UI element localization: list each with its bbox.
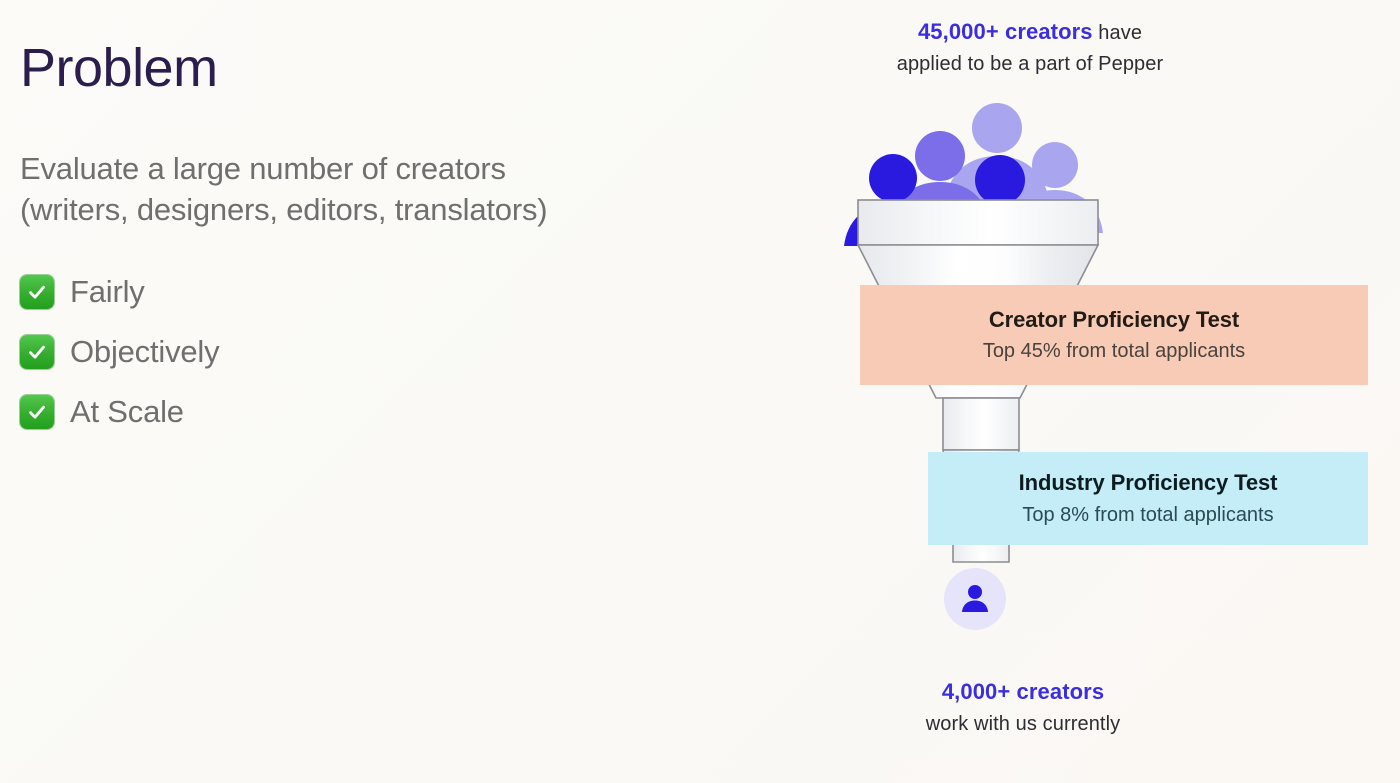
funnel-stage-band-creator-test: Creator Proficiency Test Top 45% from to… [860,285,1368,385]
person-silhouette-icon [959,581,991,618]
page-title: Problem [20,40,720,97]
list-item: At Scale [20,395,720,429]
criteria-checklist: Fairly Objectively At Scale [20,275,720,429]
funnel-bottom-caption: 4,000+ creators work with us currently [808,676,1238,739]
list-item: Fairly [20,275,720,309]
funnel-bottom-caption-line2: work with us currently [808,710,1238,739]
funnel-diagram: 45,000+ creators have applied to be a pa… [760,0,1400,783]
checklist-item-label: At Scale [70,396,184,427]
funnel-shape-graphic [760,0,1400,783]
slide-left-column: Problem Evaluate a large number of creat… [20,40,720,455]
funnel-stage-subtitle: Top 45% from total applicants [983,339,1245,363]
funnel-stage-subtitle: Top 8% from total applicants [1022,503,1273,527]
funnel-stage-title: Industry Proficiency Test [1019,470,1278,496]
funnel-stage-band-industry-test: Industry Proficiency Test Top 8% from to… [928,452,1368,545]
check-mark-button-icon [20,395,54,429]
funnel-stage-title: Creator Proficiency Test [989,307,1239,333]
check-mark-button-icon [20,335,54,369]
avatar [944,568,1006,630]
slide-canvas: Problem Evaluate a large number of creat… [0,0,1400,783]
lead-paragraph-line-2: (writers, designers, editors, translator… [20,190,720,231]
funnel-bottom-caption-highlight: 4,000+ creators [942,679,1104,704]
lead-paragraph-line-1: Evaluate a large number of creators [20,149,720,190]
list-item: Objectively [20,335,720,369]
checklist-item-label: Fairly [70,276,145,307]
lead-paragraph: Evaluate a large number of creators (wri… [20,149,720,231]
check-mark-button-icon [20,275,54,309]
checklist-item-label: Objectively [70,336,219,367]
